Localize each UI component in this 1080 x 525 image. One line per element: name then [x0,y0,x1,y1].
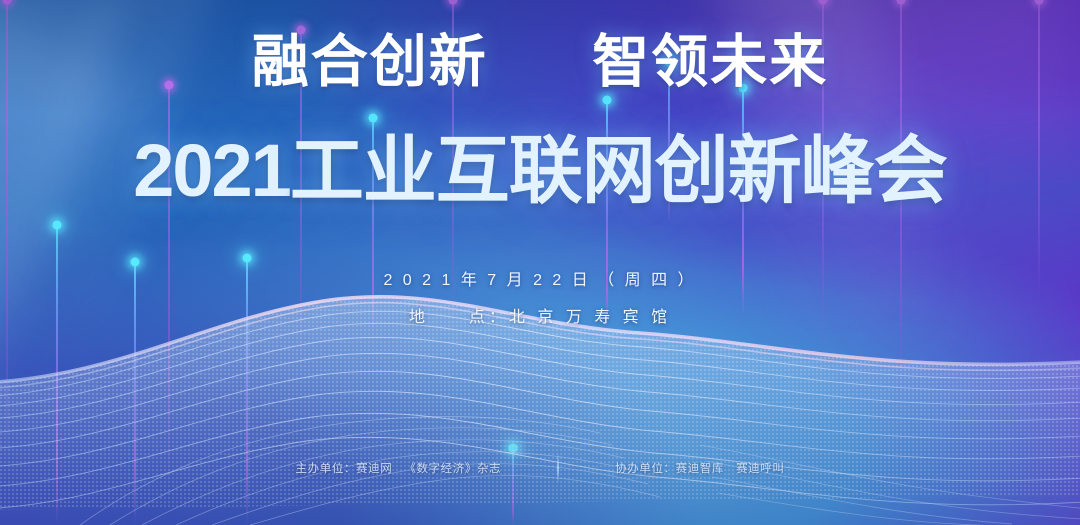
venue-value: 北 京 万 寿 宾 馆 [509,309,671,326]
host-org-2: 《数字经济》杂志 [404,463,501,475]
event-poster: 融合创新 智领未来 2021工业互联网创新峰会 2 0 2 1 年 7 月 2 … [0,0,1080,525]
title-text: 工业互联网创新峰会 [290,129,947,212]
coorg-org-1: 赛迪智库 [676,463,724,475]
venue-label: 地 点： [409,309,509,326]
event-venue-line: 地 点：北 京 万 寿 宾 馆 [0,303,1080,327]
event-meta: 2 0 2 1 年 7 月 2 2 日 （ 周 四 ） 地 点：北 京 万 寿 … [0,266,1080,327]
poster-headline: 融合创新 智领未来 [0,34,1080,91]
poster-footer: 主办单位：赛迪网《数字经济》杂志 协办单位：赛迪智库赛迪呼叫 [0,453,1080,483]
host-label: 主办单位： [296,463,357,475]
headline-right: 智领未来 [592,31,828,94]
footer-divider [557,453,559,483]
title-year: 2021 [133,129,290,212]
co-organizers: 协办单位：赛迪智库赛迪呼叫 [615,460,784,476]
coorg-org-2: 赛迪呼叫 [736,463,784,475]
host-org-1: 赛迪网 [356,463,392,475]
event-date: 2 0 2 1 年 7 月 2 2 日 （ 周 四 ） [0,266,1080,290]
headline-left: 融合创新 [252,31,488,94]
page-title: 2021工业互联网创新峰会 [0,134,1080,208]
host-organizers: 主办单位：赛迪网《数字经济》杂志 [296,460,502,476]
coorg-label: 协办单位： [615,463,676,475]
